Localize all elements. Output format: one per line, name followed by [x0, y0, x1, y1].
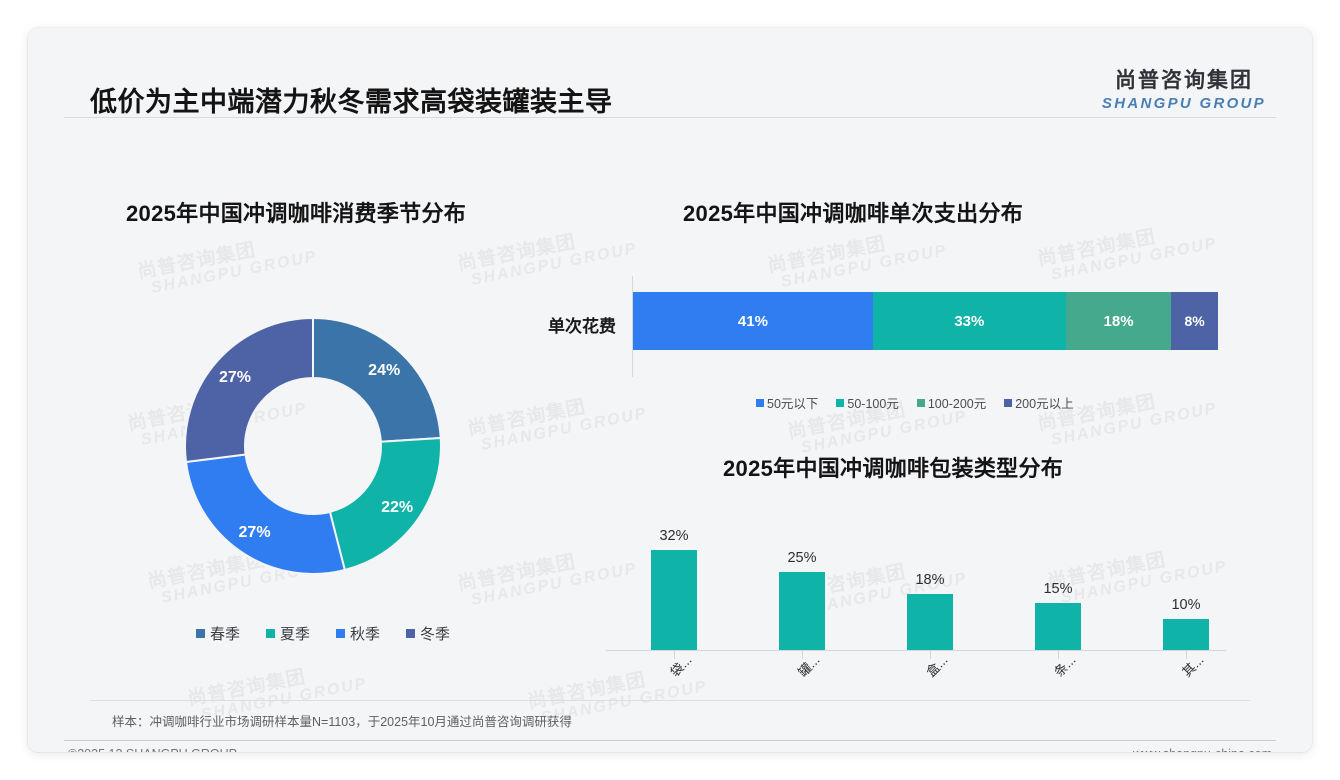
legend-item[interactable]: 50-100元: [836, 393, 898, 412]
bar-column[interactable]: 32%: [651, 528, 697, 650]
watermark-cn: 尚普咨询集团: [1036, 216, 1216, 270]
legend-item[interactable]: 秋季: [336, 623, 380, 644]
footer-divider: [64, 740, 1276, 741]
stacked-bar-chart: 单次花费 41%33%18%8%: [528, 276, 1228, 381]
logo-en-text: SHANGPU GROUP: [1102, 95, 1266, 112]
bar-column[interactable]: 15%: [1035, 581, 1081, 650]
legend-swatch-icon: [336, 629, 345, 638]
bar-rect[interactable]: [907, 594, 953, 650]
footer-website: www.shangpu-china.com: [1133, 747, 1272, 752]
donut-chart-title: 2025年中国冲调咖啡消费季节分布: [126, 196, 466, 228]
watermark-cn: 尚普咨询集团: [186, 656, 366, 710]
brand-logo: 尚普咨询集团 SHANGPU GROUP: [1102, 64, 1266, 112]
legend-label: 秋季: [350, 623, 380, 644]
donut-chart: 24%22%27%27%: [133, 281, 493, 611]
legend-item[interactable]: 春季: [196, 623, 240, 644]
bar-value-label: 10%: [1171, 597, 1200, 613]
legend-item[interactable]: 50元以下: [756, 393, 818, 412]
slide-canvas: 尚普咨询集团SHANGPU GROUP 尚普咨询集团SHANGPU GROUP …: [28, 28, 1312, 752]
bar-value-label: 18%: [915, 572, 944, 588]
legend-label: 春季: [210, 623, 240, 644]
legend-swatch-icon: [196, 629, 205, 638]
legend-swatch-icon: [836, 399, 844, 407]
legend-swatch-icon: [266, 629, 275, 638]
stacked-bar-segment[interactable]: 33%: [873, 292, 1066, 350]
legend-label: 冬季: [420, 623, 450, 644]
legend-item[interactable]: 冬季: [406, 623, 450, 644]
legend-label: 50-100元: [847, 393, 898, 412]
bar-column[interactable]: 25%: [779, 550, 825, 650]
bar-rect[interactable]: [651, 550, 697, 650]
bar-rect[interactable]: [1035, 603, 1081, 650]
legend-label: 夏季: [280, 623, 310, 644]
stacked-bar-segment[interactable]: 18%: [1066, 292, 1171, 350]
legend-swatch-icon: [756, 399, 764, 407]
donut-slice-value: 22%: [381, 499, 413, 516]
legend-item[interactable]: 200元以上: [1004, 393, 1073, 412]
bar-value-label: 25%: [787, 550, 816, 566]
donut-slices: [185, 318, 441, 574]
bar-chart-title: 2025年中国冲调咖啡包装类型分布: [723, 451, 1063, 483]
watermark-cn: 尚普咨询集团: [766, 223, 946, 277]
bar-value-label: 32%: [659, 528, 688, 544]
footer-copyright: ©2025.12 SHANGPU GROUP: [68, 747, 237, 752]
donut-slice-value: 24%: [368, 362, 400, 379]
watermark-cn: 尚普咨询集团: [466, 386, 646, 440]
donut-slice[interactable]: [185, 318, 313, 462]
stacked-bar-title: 2025年中国冲调咖啡单次支出分布: [683, 196, 1023, 228]
legend-swatch-icon: [1004, 399, 1012, 407]
legend-swatch-icon: [406, 629, 415, 638]
sample-footnote: 样本：冲调咖啡行业市场调研样本量N=1103，于2025年10月通过尚普咨询调研…: [112, 711, 572, 730]
donut-slice[interactable]: [186, 455, 345, 574]
stacked-bar-segment[interactable]: 8%: [1171, 292, 1218, 350]
bar-chart-baseline: [606, 650, 1226, 651]
legend-item[interactable]: 夏季: [266, 623, 310, 644]
watermark-cn: 尚普咨询集团: [456, 221, 636, 275]
legend-label: 100-200元: [928, 393, 986, 412]
donut-slice[interactable]: [313, 318, 441, 442]
stacked-bar-segment[interactable]: 41%: [633, 292, 873, 350]
logo-cn-text: 尚普咨询集团: [1102, 64, 1266, 94]
bar-column[interactable]: 10%: [1163, 597, 1209, 650]
bar-column[interactable]: 18%: [907, 572, 953, 650]
stacked-bar-category-label: 单次花费: [528, 312, 616, 337]
legend-label: 50元以下: [767, 393, 818, 412]
donut-slice-value: 27%: [239, 524, 271, 541]
legend-label: 200元以上: [1015, 393, 1073, 412]
footnote-divider: [90, 700, 1250, 701]
header-divider: [64, 117, 1276, 118]
legend-swatch-icon: [917, 399, 925, 407]
bar-chart: 32%袋...25%罐...18%盒...15%条...10%其...: [606, 506, 1226, 684]
bar-rect[interactable]: [779, 572, 825, 650]
watermark-cn: 尚普咨询集团: [136, 229, 316, 283]
slide-header: 低价为主中端潜力秋冬需求高袋装罐装主导 尚普咨询集团 SHANGPU GROUP: [28, 28, 1312, 118]
bar-value-label: 15%: [1043, 581, 1072, 597]
stacked-bar-legend: 50元以下50-100元100-200元200元以上: [756, 393, 1074, 412]
donut-chart-svg: 24%22%27%27%: [133, 281, 493, 611]
watermark-en: SHANGPU GROUP: [470, 406, 649, 457]
page-title: 低价为主中端潜力秋冬需求高袋装罐装主导: [90, 80, 613, 119]
legend-item[interactable]: 100-200元: [917, 393, 986, 412]
donut-slice-value: 27%: [219, 369, 251, 386]
stacked-bar-track: 41%33%18%8%: [633, 292, 1218, 350]
donut-chart-legend: 春季夏季秋季冬季: [196, 623, 450, 644]
